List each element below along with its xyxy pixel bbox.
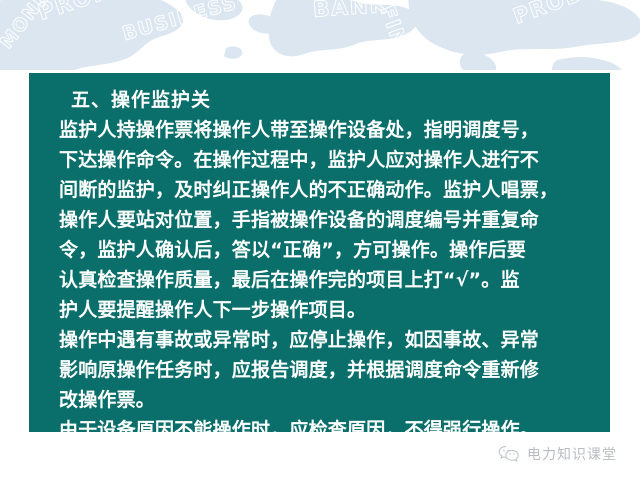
slide-canvas: PROFITMONEYBUSINESSBANKFINANCYPRODUCTTAX… [0,0,640,480]
content-panel-inner: 五、操作监护关 监护人持操作票将操作人带至操作设备处，指明调度号，下达操作命令。… [29,73,610,432]
page-title: 五、操作监护关 [71,85,594,115]
body-line: 监护人持操作票将操作人带至操作设备处，指明调度号， [59,115,594,145]
body-line: 认真检查操作质量，最后在操作完的项目上打“√”。监 [59,265,594,295]
brand-footer: 电力知识课堂 [498,444,617,464]
body-line: 由于设备原因不能操作时，应检查原因，不得强行操作。 [59,415,594,445]
body-line: 护人要提醒操作人下一步操作项目。 [59,295,594,325]
body-line: 操作中遇有事故或异常时，应停止操作，如因事故、异常 [59,325,594,355]
body-text-block: 监护人持操作票将操作人带至操作设备处，指明调度号，下达操作命令。在操作过程中，监… [59,115,594,475]
body-line: 令，监护人确认后，答以“正确”，方可操作。操作后要 [59,235,594,265]
header-decoration-band: PROFITMONEYBUSINESSBANKFINANCYPRODUCTTAX [0,0,640,70]
body-line: 操作人要站对位置，手指被操作设备的调度编号并重复命 [59,205,594,235]
content-panel: 五、操作监护关 监护人持操作票将操作人带至操作设备处，指明调度号，下达操作命令。… [29,73,610,432]
brand-name-label: 电力知识课堂 [527,444,617,464]
wechat-icon [498,445,520,463]
body-line: 改操作票。 [59,385,594,415]
body-line: 间断的监护，及时纠正操作人的不正确动作。监护人唱票， [59,175,594,205]
body-line: 下达操作命令。在操作过程中，监护人应对操作人进行不 [59,145,594,175]
body-line: 影响原操作任务时，应报告调度，并根据调度命令重新修 [59,355,594,385]
